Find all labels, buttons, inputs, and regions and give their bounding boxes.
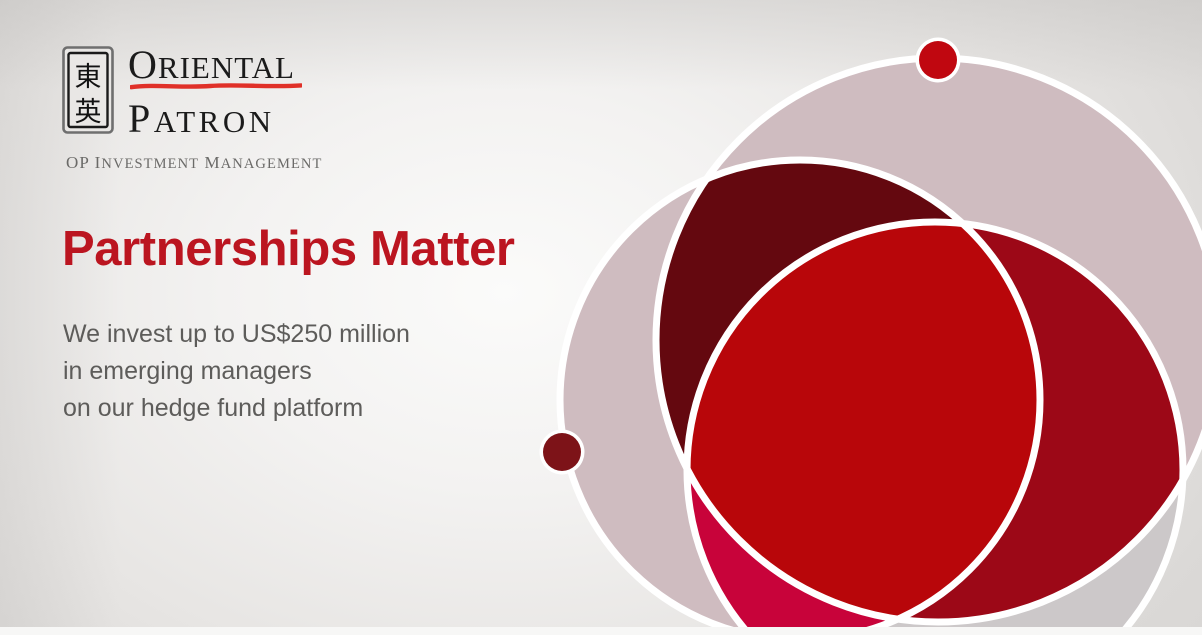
wordmark-patron: PATRON <box>128 99 295 139</box>
seal-character-dong: 東 <box>75 62 102 93</box>
brand-tagline: OP INVESTMENT MANAGEMENT <box>66 153 362 173</box>
brand-wordmark: ORIENTAL PATRON <box>128 44 295 139</box>
bottom-white-strip <box>0 627 1202 635</box>
left-accent-dot <box>540 430 585 475</box>
seal-character-ying: 英 <box>75 97 102 128</box>
wordmark-oriental: ORIENTAL <box>128 45 295 85</box>
red-brush-underline-icon <box>130 82 302 90</box>
subcopy-block: We invest up to US$250 million in emergi… <box>63 316 410 427</box>
top-accent-dot <box>916 38 961 83</box>
page-title: Partnerships Matter <box>62 224 515 276</box>
oriental-patron-seal-icon: 東 英 <box>62 46 114 134</box>
subcopy-line-2: in emerging managers <box>63 353 410 390</box>
subcopy-line-1: We invest up to US$250 million <box>63 316 410 353</box>
brand-logo: 東 英 ORIENTAL PATRON OP INVESTMENT MANAGE… <box>62 44 362 173</box>
slide-canvas: 東 英 ORIENTAL PATRON OP INVESTMENT MANAGE… <box>0 0 1202 635</box>
subcopy-line-3: on our hedge fund platform <box>63 390 410 427</box>
